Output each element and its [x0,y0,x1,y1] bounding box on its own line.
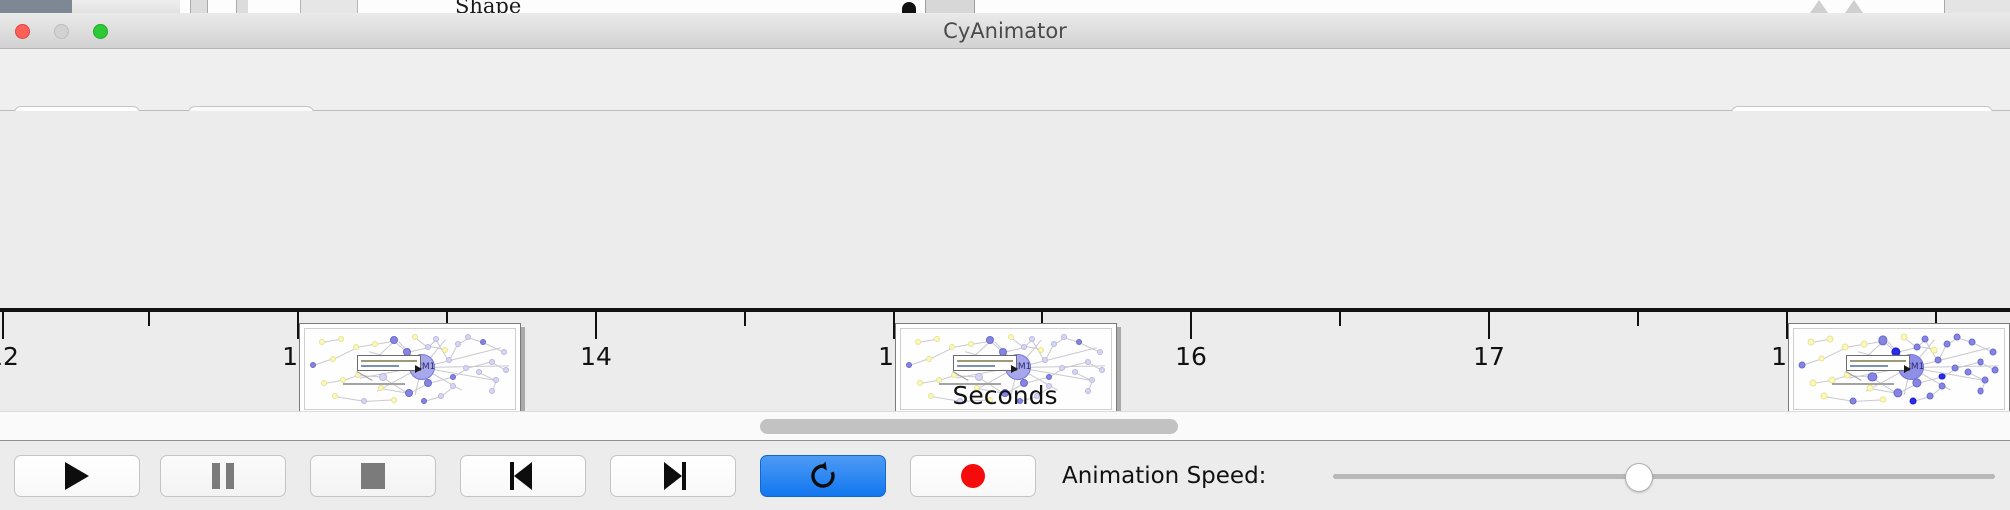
skip-to-start-icon [510,462,536,490]
background-chip-3 [236,0,248,13]
network-node [1818,355,1825,362]
tick-major-12 [2,312,4,339]
network-node [949,344,955,350]
network-node [1799,362,1806,369]
callout-pointer-icon [1011,365,1018,373]
network-node [1029,336,1035,342]
network-node [319,339,325,345]
background-titlebar-dark [0,0,72,13]
slider-track [1333,474,1995,479]
callout-pointer-icon [415,365,422,373]
network-node [1990,349,1997,356]
background-window-label: Shape [455,0,521,13]
record-icon [961,464,985,488]
network-node [975,373,983,381]
network-node [1061,334,1067,340]
network-node [1930,347,1937,354]
pause-button[interactable] [160,455,286,497]
tick-label-12: 12 [0,342,19,371]
background-triangle-1 [1810,0,1828,13]
background-chip-1 [72,0,180,13]
network-node [465,334,471,340]
tick-label-17: 17 [1473,342,1505,371]
network-node [310,362,316,368]
network-node [1827,335,1834,342]
network-node [1935,357,1942,364]
timeline-panel[interactable]: 12131415161718 MCM1MCM1MCM1 Seconds [0,111,2010,411]
last-frame-button[interactable] [610,455,736,497]
background-blob [902,2,916,13]
network-node [1076,339,1082,345]
network-node [379,373,387,381]
network-node [1969,339,1976,346]
tick-major-17 [1488,312,1490,339]
node-tooltip-callout [953,355,1017,371]
network-node [412,334,418,340]
network-node [450,374,456,380]
background-chip-6 [1944,0,2010,13]
network-node [425,344,431,350]
network-node [1939,373,1946,380]
tick-minor-2 [744,312,746,326]
network-node [480,339,486,345]
timeline-scrollbar[interactable] [0,411,2010,441]
animation-speed-slider[interactable] [1333,455,1995,497]
network-node [489,359,495,365]
network-node [1914,344,1921,351]
network-node [986,336,994,344]
network-node [1042,357,1048,363]
window-title: CyAnimator [0,13,2010,49]
network-node [1072,369,1078,375]
network-node [476,369,482,375]
network-node [1051,341,1057,347]
animation-speed-label: Animation Speed: [1062,455,1266,497]
tick-label-14: 14 [580,342,612,371]
network-node [1008,334,1014,340]
stop-button[interactable] [310,455,436,497]
node-tooltip-callout [1846,355,1910,371]
network-node [353,344,359,350]
network-node [503,367,509,373]
loop-button[interactable] [760,455,886,497]
play-icon [65,462,89,490]
network-node [934,336,940,342]
callout-pointer-icon [1904,365,1911,373]
network-node [1977,358,1984,365]
timeline-axis [0,308,2010,312]
tick-minor-0 [148,312,150,326]
network-node [390,336,398,344]
network-node [1021,344,1027,350]
network-node [1085,359,1091,365]
network-node [1097,349,1103,355]
axis-caption: Seconds [0,381,2010,410]
background-triangle-2 [1845,0,1863,13]
network-node [442,347,448,353]
network-node [433,336,439,342]
network-node [1038,347,1044,353]
network-node [1922,335,1929,342]
titlebar: CyAnimator [0,13,2010,49]
play-button[interactable] [14,455,140,497]
close-icon[interactable] [15,24,30,39]
network-node [501,349,507,355]
network-node [1099,367,1105,373]
network-node [1046,374,1052,380]
network-node [330,356,336,362]
network-node [915,339,921,345]
network-node [455,341,461,347]
network-node [906,362,912,368]
network-node [1992,367,1999,374]
record-button[interactable] [910,455,1036,497]
network-node [926,356,932,362]
tick-minor-5 [1637,312,1639,326]
network-node [1952,365,1959,372]
network-node [1059,365,1065,371]
first-frame-button[interactable] [460,455,586,497]
network-node [1861,340,1868,347]
scrollbar-thumb[interactable] [760,419,1178,434]
network-node [1954,334,1961,341]
network-node [463,365,469,371]
tick-label-16: 16 [1175,342,1207,371]
network-node [1901,334,1908,341]
network-node [1808,339,1815,346]
maximize-icon[interactable] [93,24,108,39]
background-chip-2 [190,0,208,13]
tick-major-14 [595,312,597,339]
playback-controls: Animation Speed: [0,442,2010,510]
pause-icon [212,463,234,489]
network-node [372,341,378,347]
tick-major-16 [1190,312,1192,339]
cyanimator-window: Shape CyAnimator Clear All Frames [0,0,2010,510]
network-node [1964,368,1971,375]
skip-to-end-icon [660,462,686,490]
network-node [968,341,974,347]
minimize-icon[interactable] [54,24,69,39]
node-tooltip-callout [357,355,421,371]
background-chip-4 [300,0,358,13]
network-node [446,357,452,363]
stop-icon [361,463,385,489]
tick-minor-4 [1339,312,1341,326]
network-node [1841,344,1848,351]
slider-thumb[interactable] [1625,463,1653,492]
toolbar: Clear All Frames [0,49,2010,111]
network-node [1943,340,1950,347]
loop-refresh-icon [808,461,838,491]
background-chip-5 [925,0,975,13]
background-window-strip: Shape [0,0,2010,13]
network-node [338,336,344,342]
